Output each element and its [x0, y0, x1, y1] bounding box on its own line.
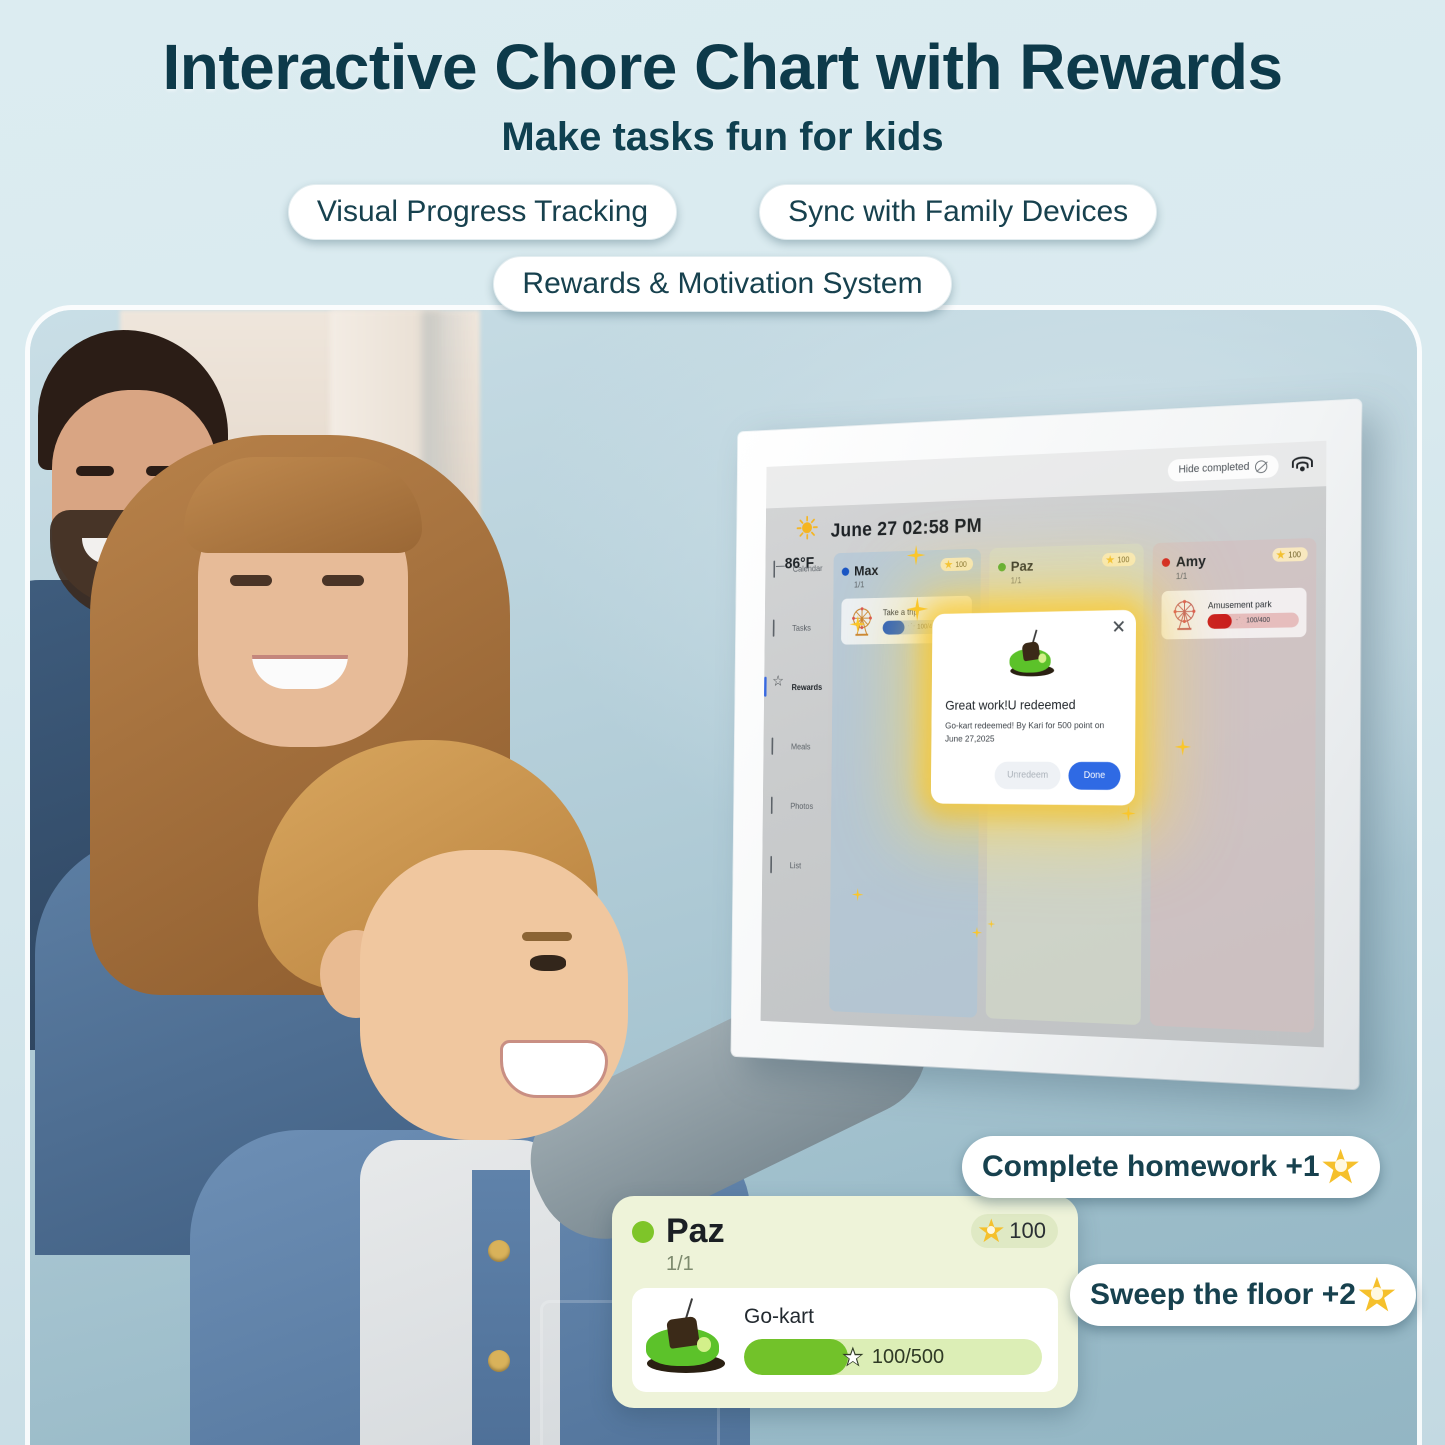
points-value: 100	[1117, 555, 1129, 564]
reward-task-row[interactable]: Go-kart 100/500	[632, 1288, 1058, 1392]
reward-progress-bar: 100/500	[744, 1339, 1042, 1375]
sidebar-item-photos[interactable]: Photos	[763, 793, 827, 818]
kid-name: Amy	[1176, 553, 1206, 570]
points-badge: 100	[1272, 547, 1308, 562]
reward-details: Amusement park 100/400	[1208, 598, 1299, 628]
reward-progress-label: 100/500	[744, 1339, 1042, 1375]
star-icon	[1276, 550, 1286, 560]
points-badge: 100	[941, 557, 973, 571]
feature-pill-row-1: Visual Progress Tracking Sync with Famil…	[0, 184, 1445, 240]
points-badge: 100	[1102, 552, 1136, 566]
star-icon	[978, 1218, 1004, 1244]
reward-progress-bar: 100/400	[1208, 612, 1299, 628]
kid-status-dot	[842, 567, 849, 575]
tablet-frame: Hide completed	[731, 399, 1361, 1089]
kid-name: Max	[854, 563, 878, 579]
reward-redeemed-modal: Great work!U redeemed Go-kart redeemed! …	[931, 610, 1136, 805]
task-pill-sweep-floor: Sweep the floor +2	[1070, 1264, 1416, 1326]
star-icon	[1322, 1148, 1360, 1186]
sidebar-item-tasks[interactable]: Tasks	[765, 615, 829, 641]
kid-name: Paz	[666, 1212, 725, 1251]
sidebar-item-label: Calendar	[793, 563, 823, 573]
screen-sidebar: Calendar Tasks ☆ Rewards Meals	[761, 555, 829, 1024]
reward-task-details: Go-kart 100/500	[744, 1305, 1042, 1375]
tablet-screen[interactable]: Hide completed	[761, 441, 1327, 1048]
screen-topbar: Hide completed	[766, 441, 1326, 509]
feature-pill-rewards-motivation: Rewards & Motivation System	[493, 256, 951, 312]
star-icon: ☆	[772, 675, 786, 700]
sidebar-item-label: Photos	[790, 801, 813, 810]
modal-title: Great work!U redeemed	[945, 697, 1121, 713]
sidebar-item-list[interactable]: List	[762, 852, 826, 878]
page-title: Interactive Chore Chart with Rewards	[0, 34, 1445, 101]
eye-off-icon	[1255, 460, 1267, 473]
sun-icon	[796, 515, 817, 539]
reward-card[interactable]: Amusement park 100/400	[1162, 588, 1307, 640]
wall-mounted-tablet: Hide completed	[731, 399, 1361, 1089]
star-icon	[1358, 1276, 1396, 1314]
go-kart-icon	[642, 1304, 730, 1376]
kid-status-dot	[1162, 558, 1170, 567]
calendar-icon	[773, 561, 787, 577]
photos-icon	[771, 798, 785, 814]
feature-pill-sync-devices: Sync with Family Devices	[759, 184, 1157, 240]
tasks-icon	[773, 620, 787, 636]
task-pill-label: Sweep the floor +2	[1090, 1278, 1356, 1312]
kid-status-dot	[998, 563, 1006, 572]
sidebar-item-label: List	[790, 860, 801, 869]
hide-completed-label: Hide completed	[1178, 461, 1249, 476]
date-time-display: June 27 02:58 PM	[831, 515, 982, 543]
sidebar-item-calendar[interactable]: Calendar	[765, 555, 829, 581]
reward-title: Go-kart	[744, 1305, 1042, 1329]
star-icon	[908, 623, 915, 631]
star-icon	[1106, 555, 1115, 565]
meals-icon	[771, 738, 785, 753]
points-badge: 100	[971, 1214, 1058, 1248]
hero-header: Interactive Chore Chart with Rewards Mak…	[0, 0, 1445, 300]
ferris-wheel-icon	[848, 605, 876, 637]
modal-description: Go-kart redeemed! By Kari for 500 point …	[945, 720, 1121, 747]
feature-pill-visual-progress: Visual Progress Tracking	[288, 184, 677, 240]
sidebar-item-label: Rewards	[792, 682, 823, 691]
wifi-icon	[1292, 456, 1313, 473]
kid-column-amy[interactable]: 100 Amy 1/1	[1150, 538, 1316, 1033]
star-icon	[944, 560, 953, 570]
paz-reward-card[interactable]: 100 Paz 1/1 Go-kart 100/500	[612, 1196, 1078, 1408]
sidebar-item-rewards[interactable]: ☆ Rewards	[764, 674, 828, 699]
list-icon	[770, 857, 784, 873]
points-value: 100	[1288, 550, 1301, 559]
star-icon	[842, 1346, 864, 1368]
kid-name: Paz	[1011, 558, 1034, 575]
hide-completed-toggle[interactable]: Hide completed	[1167, 454, 1278, 481]
modal-actions: Unredeem Done	[945, 761, 1121, 789]
points-value: 100	[955, 560, 967, 569]
reward-title: Amusement park	[1208, 598, 1299, 610]
page-subtitle: Make tasks fun for kids	[0, 115, 1445, 160]
ferris-wheel-icon	[1169, 598, 1201, 632]
go-kart-icon	[1008, 633, 1057, 679]
task-pill-label: Complete homework +1	[982, 1150, 1320, 1184]
kid-progress-count: 1/1	[854, 577, 972, 589]
points-value: 100	[1009, 1218, 1046, 1244]
close-icon[interactable]	[1112, 620, 1125, 634]
kid-progress-count: 1/1	[666, 1253, 1058, 1276]
done-button[interactable]: Done	[1068, 762, 1120, 790]
kid-status-dot	[632, 1221, 654, 1243]
sidebar-item-label: Meals	[791, 742, 811, 751]
feature-pill-row-2: Rewards & Motivation System	[0, 256, 1445, 312]
star-icon	[1236, 617, 1244, 625]
reward-progress-label: 100/400	[1208, 612, 1299, 628]
sidebar-item-label: Tasks	[792, 623, 811, 632]
unredeem-button[interactable]: Unredeem	[995, 762, 1061, 790]
sidebar-item-meals[interactable]: Meals	[763, 734, 827, 759]
task-pill-complete-homework: Complete homework +1	[962, 1136, 1380, 1198]
